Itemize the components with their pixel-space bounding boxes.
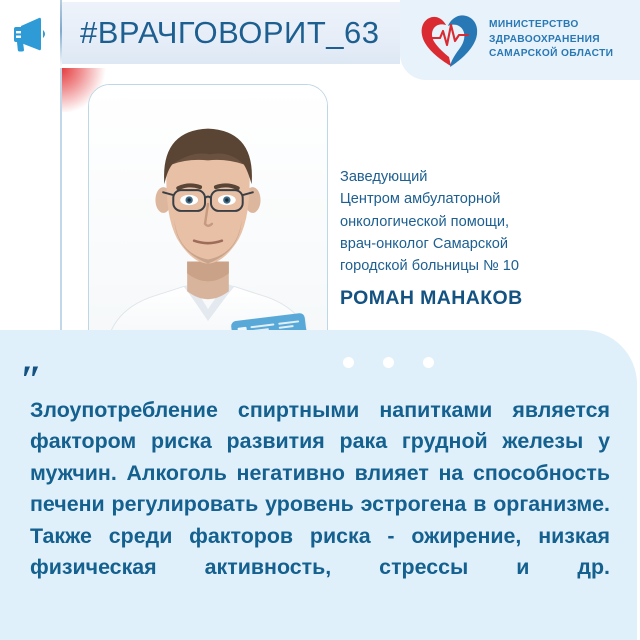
doctor-role-line-3: онкологической помощи, (340, 214, 509, 230)
doctor-role-line-1: Заведующий (340, 169, 427, 185)
doctor-name: РОМАН МАНАКОВ (340, 287, 620, 310)
poster-root: #ВРАЧГОВОРИТ_63 МИНИСТЕРСТВО ЗДРАВООХРАН… (0, 0, 640, 640)
dot-2 (383, 357, 394, 368)
left-vertical-rail (60, 68, 62, 333)
header-band: #ВРАЧГОВОРИТ_63 МИНИСТЕРСТВО ЗДРАВООХРАН… (0, 0, 640, 68)
ministry-line-3: САМАРСКОЙ ОБЛАСТИ (489, 48, 613, 59)
doctor-role-line-4: врач-онколог Самарской (340, 236, 508, 252)
doctor-role-line-2: Центром амбулаторной (340, 191, 500, 207)
quote-text: Злоупотребление спиртными напитками явля… (30, 395, 610, 584)
ministry-logo-panel: МИНИСТЕРСТВО ЗДРАВООХРАНЕНИЯ САМАРСКОЙ О… (400, 0, 640, 80)
ministry-logo-text: МИНИСТЕРСТВО ЗДРАВООХРАНЕНИЯ САМАРСКОЙ О… (489, 18, 613, 61)
hashtag-text: #ВРАЧГОВОРИТ_63 (80, 15, 379, 51)
doctor-role-line-5: городской больницы № 10 (340, 258, 519, 274)
doctor-info: Заведующий Центром амбулаторной онкологи… (340, 166, 620, 310)
doctor-role: Заведующий Центром амбулаторной онкологи… (340, 166, 620, 278)
quote-mark-icon: ″ (20, 360, 39, 400)
megaphone-tile (0, 0, 60, 68)
heart-ecg-logo-icon (418, 11, 480, 69)
megaphone-icon (10, 16, 50, 52)
hashtag-banner: #ВРАЧГОВОРИТ_63 (62, 2, 400, 64)
ministry-line-1: МИНИСТЕРСТВО (489, 19, 579, 30)
dot-3 (423, 357, 434, 368)
dot-1 (343, 357, 354, 368)
ministry-line-2: ЗДРАВООХРАНЕНИЯ (489, 34, 600, 45)
decorative-dots (343, 357, 434, 368)
